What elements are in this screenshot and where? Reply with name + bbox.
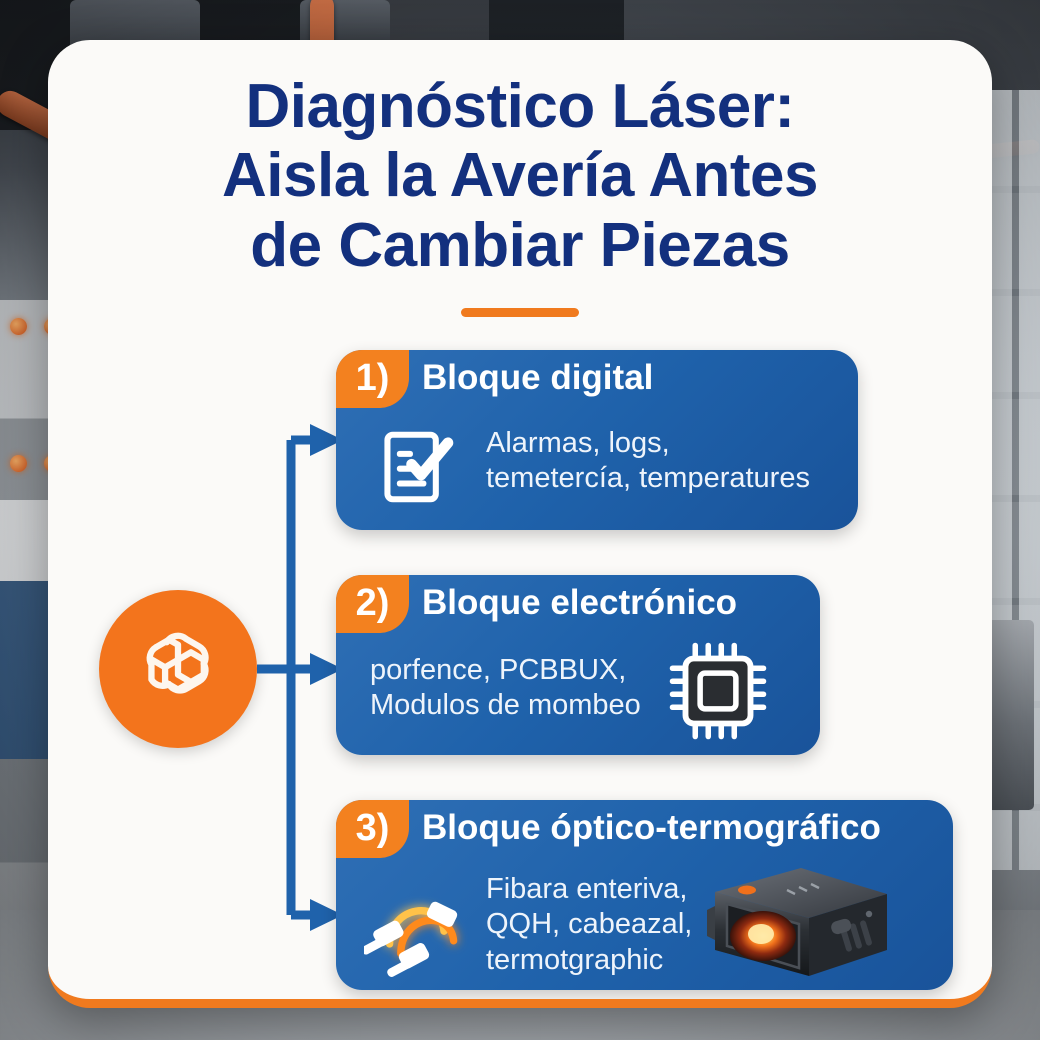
page-title: Diagnóstico Láser: Aisla la Avería Antes… xyxy=(48,72,992,280)
block-description: Alarmas, logs, temetercía, temperatures xyxy=(486,426,810,497)
title-line-1: Diagnóstico Láser: xyxy=(48,72,992,141)
block-number-badge: 3) xyxy=(336,800,409,858)
block-optical-thermographic[interactable]: 3) Bloque óptico-termográfico xyxy=(336,800,953,990)
block-title: Bloque óptico-termográfico xyxy=(422,808,881,848)
block-number-badge: 2) xyxy=(336,575,409,633)
block-description: porfence, PCBBUX, Modulos de mombeo xyxy=(370,653,641,724)
checklist-clipboard-icon xyxy=(374,424,460,515)
block-title: Bloque digital xyxy=(422,358,653,398)
logo-badge xyxy=(99,590,257,748)
fiber-optic-cable-icon xyxy=(364,876,476,985)
thermal-camera-icon xyxy=(691,858,901,993)
title-line-2: Aisla la Avería Antes xyxy=(48,141,992,210)
block-description: Fibara enteriva, QQH, cabeazal, termotgr… xyxy=(486,872,692,978)
cpu-chip-icon xyxy=(666,639,770,748)
openai-logo-icon xyxy=(130,619,226,720)
title-line-3: de Cambiar Piezas xyxy=(48,211,992,280)
infographic-card: Diagnóstico Láser: Aisla la Avería Antes… xyxy=(48,40,992,1008)
block-title: Bloque electrónico xyxy=(422,583,737,623)
block-number-badge: 1) xyxy=(336,350,409,408)
block-electronic[interactable]: 2) Bloque electrónico porfence, PCBBUX, … xyxy=(336,575,820,755)
block-digital[interactable]: 1) Bloque digital Alarmas, logs, temeter… xyxy=(336,350,858,530)
title-divider xyxy=(461,308,579,317)
